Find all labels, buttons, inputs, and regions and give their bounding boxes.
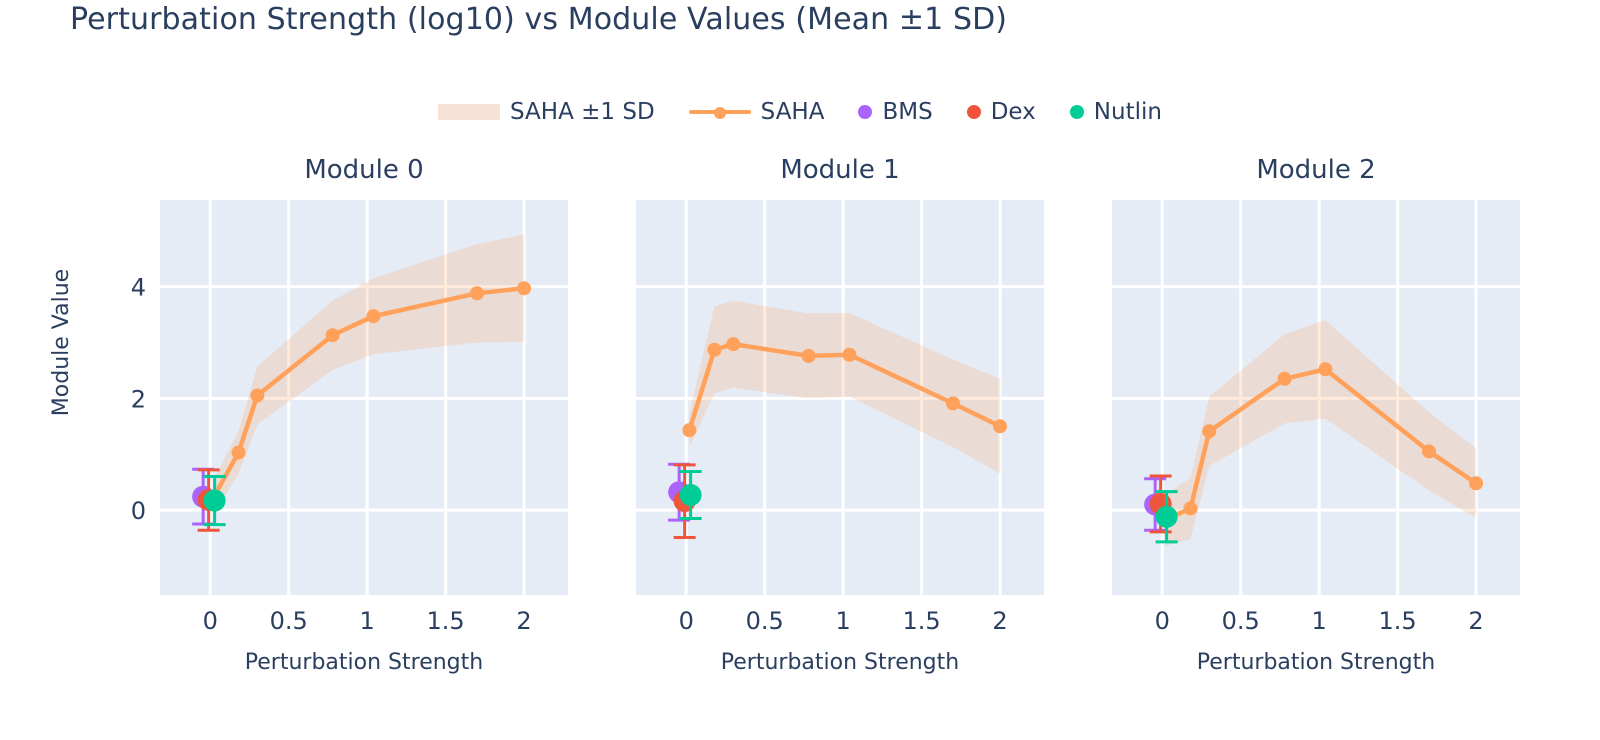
saha-data-point[interactable] <box>517 281 531 295</box>
x-axis-title: Perturbation Strength <box>636 650 1044 675</box>
x-tick-label: 0 <box>679 607 694 635</box>
x-tick-label: 1 <box>835 607 850 635</box>
marker-nutlin[interactable] <box>1156 506 1178 528</box>
saha-data-point[interactable] <box>707 343 721 357</box>
saha-data-point[interactable] <box>726 337 740 351</box>
x-tick-label: 0 <box>1155 607 1170 635</box>
y-axis-title: Module Value <box>49 269 74 416</box>
subplot-0: Module 000.511.52024Perturbation Strengt… <box>160 155 568 670</box>
chart-legend: SAHA ±1 SDSAHABMSDexNutlin <box>0 99 1600 125</box>
legend-dot-swatch-icon <box>967 105 981 119</box>
x-tick-label: 0.5 <box>746 607 784 635</box>
legend-item-bms[interactable]: BMS <box>858 99 932 125</box>
page-title: Perturbation Strength (log10) vs Module … <box>70 2 1007 37</box>
x-tick-label: 2 <box>1468 607 1483 635</box>
x-tick-label: 1.5 <box>1379 607 1417 635</box>
subplot-title: Module 1 <box>636 155 1044 185</box>
saha-data-point[interactable] <box>470 286 484 300</box>
saha-data-point[interactable] <box>250 389 264 403</box>
x-tick-label: 0 <box>203 607 218 635</box>
saha-data-point[interactable] <box>1202 424 1216 438</box>
legend-dot-swatch-icon <box>858 105 872 119</box>
legend-item-dex[interactable]: Dex <box>967 99 1036 125</box>
subplot-1: Module 100.511.52Perturbation Strength <box>636 155 1044 670</box>
marker-nutlin[interactable] <box>680 484 702 506</box>
legend-item-label: SAHA ±1 SD <box>510 99 655 125</box>
legend-item-saha[interactable]: SAHA <box>689 99 825 125</box>
legend-item-saha-1-sd[interactable]: SAHA ±1 SD <box>438 99 655 125</box>
legend-item-label: Dex <box>991 99 1036 125</box>
legend-item-label: SAHA <box>761 99 825 125</box>
subplot-title: Module 0 <box>160 155 568 185</box>
plot-area-1: 00.511.52 <box>636 200 1044 667</box>
saha-data-point[interactable] <box>1183 501 1197 515</box>
saha-data-point[interactable] <box>1469 476 1483 490</box>
saha-data-point[interactable] <box>231 446 245 460</box>
x-tick-label: 1.5 <box>427 607 465 635</box>
chart-figure: Perturbation Strength (log10) vs Module … <box>0 0 1600 740</box>
saha-data-point[interactable] <box>946 396 960 410</box>
legend-line-swatch-icon <box>689 104 751 120</box>
legend-marker-icon <box>714 107 726 119</box>
saha-data-point[interactable] <box>1422 444 1436 458</box>
saha-data-point[interactable] <box>682 423 696 437</box>
subplot-title: Module 2 <box>1112 155 1520 185</box>
saha-data-point[interactable] <box>802 349 816 363</box>
saha-data-point[interactable] <box>366 309 380 323</box>
saha-data-point[interactable] <box>842 348 856 362</box>
legend-item-label: BMS <box>882 99 932 125</box>
subplot-2: Module 200.511.52Perturbation Strength <box>1112 155 1520 670</box>
x-tick-label: 0.5 <box>270 607 308 635</box>
y-tick-label: 4 <box>131 274 146 302</box>
x-tick-label: 1 <box>1311 607 1326 635</box>
saha-data-point[interactable] <box>993 419 1007 433</box>
legend-dot-swatch-icon <box>1070 105 1084 119</box>
x-tick-label: 1.5 <box>903 607 941 635</box>
y-tick-label: 2 <box>131 385 146 413</box>
x-tick-label: 0.5 <box>1222 607 1260 635</box>
x-tick-label: 1 <box>359 607 374 635</box>
plot-area-2: 00.511.52 <box>1112 200 1520 667</box>
plot-area-0: 00.511.52024 <box>160 200 568 667</box>
saha-data-point[interactable] <box>1318 362 1332 376</box>
x-tick-label: 2 <box>992 607 1007 635</box>
marker-nutlin[interactable] <box>204 490 226 512</box>
x-axis-title: Perturbation Strength <box>160 650 568 675</box>
saha-data-point[interactable] <box>1278 372 1292 386</box>
legend-item-label: Nutlin <box>1094 99 1162 125</box>
y-tick-label: 0 <box>131 497 146 525</box>
x-tick-label: 2 <box>516 607 531 635</box>
x-axis-title: Perturbation Strength <box>1112 650 1520 675</box>
legend-item-nutlin[interactable]: Nutlin <box>1070 99 1162 125</box>
legend-band-swatch-icon <box>438 104 500 120</box>
saha-data-point[interactable] <box>326 328 340 342</box>
